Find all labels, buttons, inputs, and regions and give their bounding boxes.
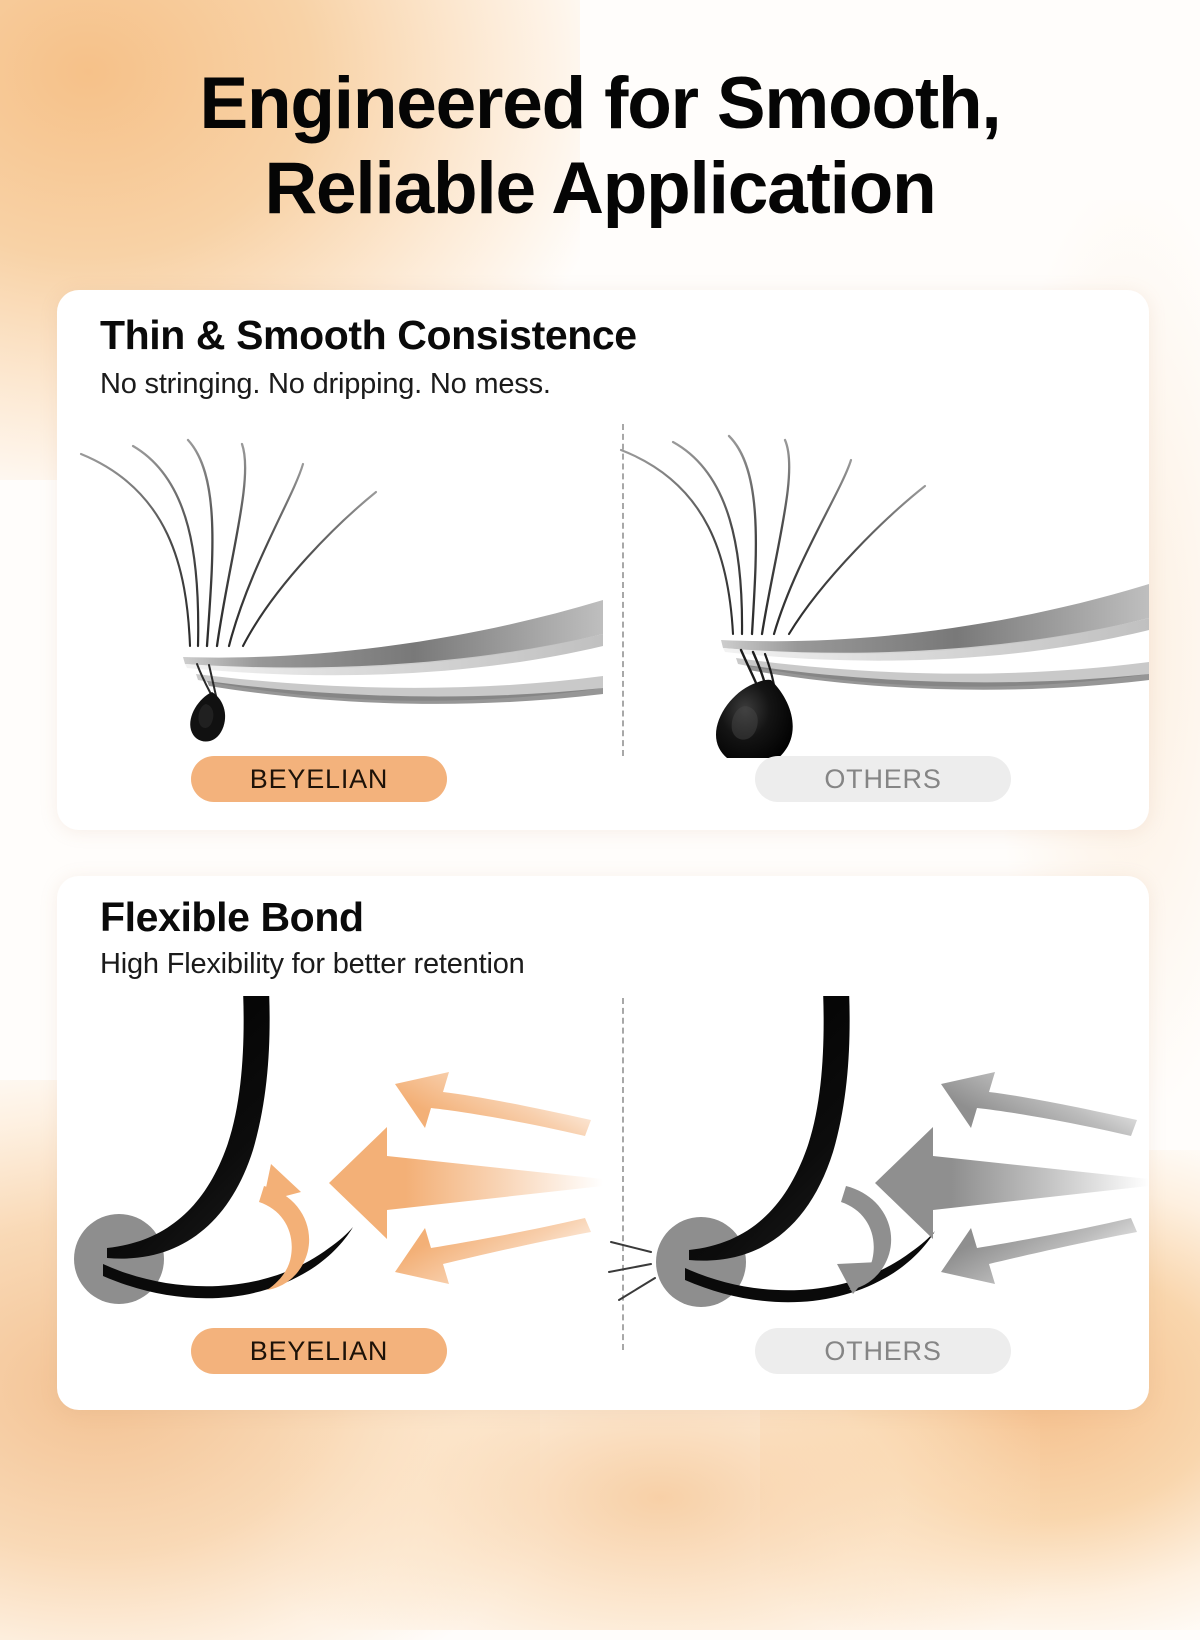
force-arrow-bottom-orange — [395, 1218, 591, 1284]
tweezers-lash-fan-big-drip-illustration — [603, 418, 1149, 758]
card-title-consistence: Thin & Smooth Consistence — [100, 312, 637, 359]
badge-others-consistence[interactable]: OTHERS — [755, 756, 1011, 802]
page-title: Engineered for Smooth, Reliable Applicat… — [0, 62, 1200, 231]
page-title-line-2: Reliable Application — [0, 147, 1200, 232]
comparison-pane-beyelian-bond — [57, 996, 603, 1346]
badge-beyelian-bond[interactable]: BEYELIAN — [191, 1328, 447, 1374]
force-arrow-top-orange — [395, 1072, 591, 1136]
comparison-area-bond — [57, 996, 1149, 1346]
comparison-area-consistence — [57, 418, 1149, 758]
badge-row-consistence: BEYELIAN OTHERS — [57, 756, 1149, 804]
force-arrow-center-orange — [329, 1127, 603, 1239]
comparison-pane-beyelian-consistence — [57, 418, 603, 758]
force-arrow-bottom-gray — [941, 1218, 1137, 1284]
brittle-bond-gray-arrows-illustration — [603, 996, 1149, 1346]
badge-row-bond: BEYELIAN OTHERS — [57, 1328, 1149, 1376]
force-arrow-center-gray — [875, 1127, 1149, 1239]
comparison-pane-others-bond — [603, 996, 1149, 1346]
flexible-bond-orange-arrows-illustration — [57, 996, 603, 1346]
crack-lines — [609, 1242, 655, 1300]
force-arrow-top-gray — [941, 1072, 1137, 1136]
badge-others-bond[interactable]: OTHERS — [755, 1328, 1011, 1374]
card-title-bond: Flexible Bond — [100, 894, 364, 941]
tweezers-lash-fan-thin-drop-illustration — [57, 418, 603, 758]
card-subtitle-bond: High Flexibility for better retention — [100, 948, 525, 981]
card-thin-smooth-consistence: Thin & Smooth Consistence No stringing. … — [57, 290, 1149, 830]
badge-beyelian-consistence[interactable]: BEYELIAN — [191, 756, 447, 802]
card-flexible-bond: Flexible Bond High Flexibility for bette… — [57, 876, 1149, 1410]
comparison-pane-others-consistence — [603, 418, 1149, 758]
card-subtitle-consistence: No stringing. No dripping. No mess. — [100, 368, 551, 401]
page-title-line-1: Engineered for Smooth, — [0, 62, 1200, 147]
